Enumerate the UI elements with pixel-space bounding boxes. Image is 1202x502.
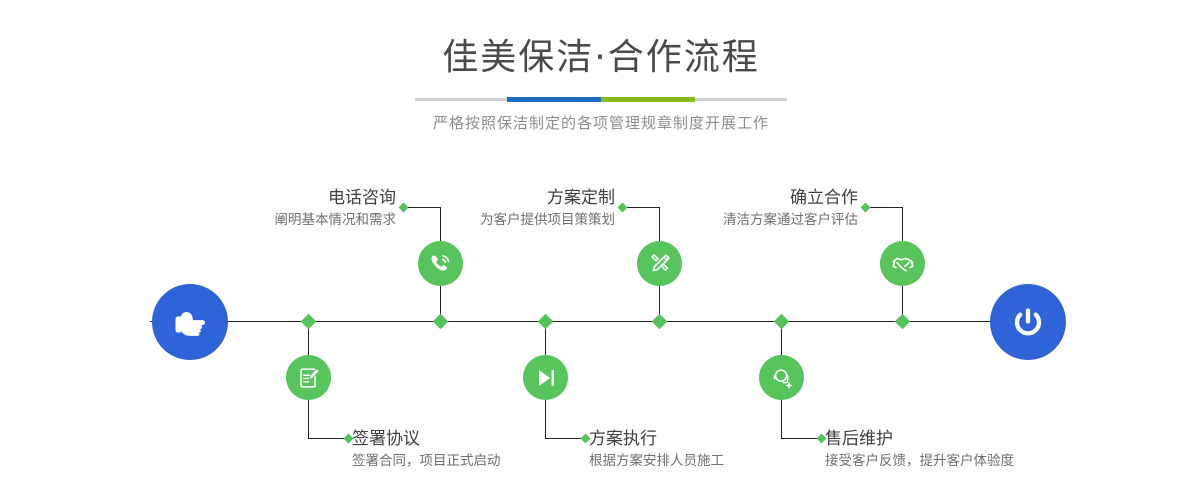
step-icon-5[interactable]: [880, 241, 925, 286]
divider-segment-green: [601, 97, 695, 102]
step-title-5: 确立合作: [630, 188, 858, 208]
connector-horizontal-2: [308, 438, 348, 439]
page-title: 佳美保洁·合作流程: [0, 40, 1202, 76]
step-icon-1[interactable]: [418, 241, 463, 286]
connector-horizontal-4: [545, 438, 585, 439]
customer-support-icon: [769, 365, 795, 391]
step-icon-3[interactable]: [637, 241, 682, 286]
phone-call-icon: [427, 250, 454, 277]
axis-marker-2: [301, 314, 317, 330]
play-skip-icon: [533, 365, 559, 391]
axis-marker-3: [652, 314, 668, 330]
hand-point-right-icon: [169, 301, 211, 343]
step-icon-4[interactable]: [523, 355, 568, 400]
step-label-4: 方案执行 根据方案安排人员施工: [589, 429, 724, 470]
step-desc-4: 根据方案安排人员施工: [589, 452, 724, 470]
timeline-axis: [150, 321, 1052, 322]
connector-horizontal-6: [781, 438, 821, 439]
step-title-2: 签署协议: [352, 429, 501, 449]
power-icon: [1007, 301, 1049, 343]
flow-start-node[interactable]: [152, 284, 228, 360]
step-title-4: 方案执行: [589, 429, 724, 449]
step-desc-3: 为客户提供项目策策划: [390, 211, 615, 229]
connector-horizontal-5: [866, 207, 903, 208]
step-desc-5: 清洁方案通过客户评估: [630, 211, 858, 229]
label-marker-3: [618, 203, 628, 213]
axis-marker-1: [433, 314, 449, 330]
step-title-6: 售后维护: [825, 429, 1014, 449]
step-icon-6[interactable]: [759, 355, 804, 400]
axis-marker-5: [895, 314, 911, 330]
step-label-3: 方案定制 为客户提供项目策策划: [390, 188, 615, 229]
axis-marker-4: [538, 314, 554, 330]
title-divider: [415, 98, 787, 101]
step-label-1: 电话咨询 阐明基本情况和需求: [150, 188, 396, 229]
flow-end-node[interactable]: [990, 284, 1066, 360]
process-flow-infographic: 佳美保洁·合作流程 严格按照保洁制定的各项管理规章制度开展工作: [0, 0, 1202, 502]
step-desc-6: 接受客户反馈，提升客户体验度: [825, 452, 1014, 470]
document-sign-icon: [296, 365, 322, 391]
step-desc-2: 签署合同，项目正式启动: [352, 452, 501, 470]
step-label-2: 签署协议 签署合同，项目正式启动: [352, 429, 501, 470]
step-icon-2[interactable]: [286, 355, 331, 400]
page-subtitle: 严格按照保洁制定的各项管理规章制度开展工作: [0, 112, 1202, 133]
step-label-6: 售后维护 接受客户反馈，提升客户体验度: [825, 429, 1014, 470]
handshake-icon: [890, 251, 916, 277]
header: 佳美保洁·合作流程 严格按照保洁制定的各项管理规章制度开展工作: [0, 0, 1202, 133]
step-desc-1: 阐明基本情况和需求: [150, 211, 396, 229]
pencil-ruler-icon: [647, 251, 673, 277]
axis-marker-6: [774, 314, 790, 330]
divider-segment-blue: [507, 97, 601, 102]
step-title-1: 电话咨询: [150, 188, 396, 208]
step-title-3: 方案定制: [390, 188, 615, 208]
label-marker-5: [861, 203, 871, 213]
step-label-5: 确立合作 清洁方案通过客户评估: [630, 188, 858, 229]
